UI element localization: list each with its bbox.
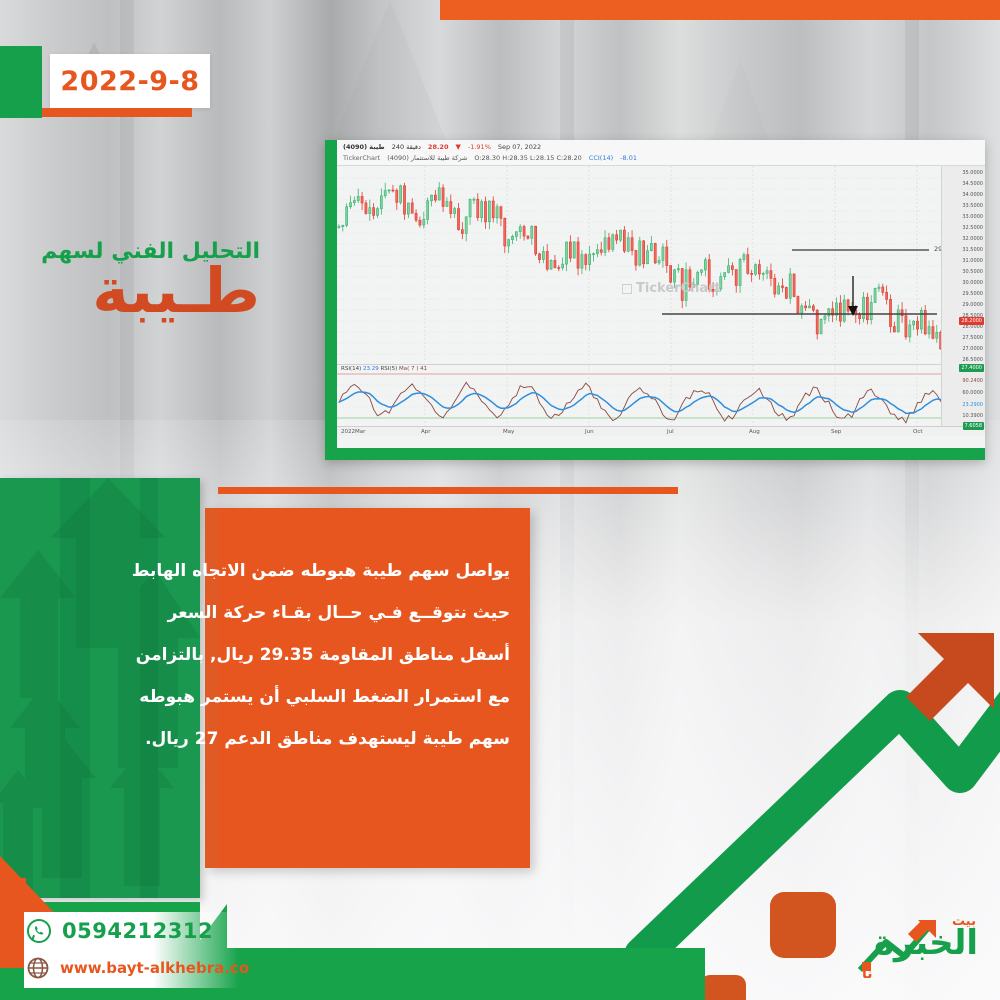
x-tick: May [503, 429, 514, 435]
x-tick: Jun [585, 429, 594, 435]
chart-screenshot[interactable]: طيبة (4090) دقيقة 240 28.20 ▼ -1.91% Sep… [337, 140, 985, 448]
logo-main-word: الخبرة [874, 926, 978, 960]
indicator-rsi-value: 23.29 [363, 366, 379, 372]
chart-last-price: 28.20 [428, 142, 449, 153]
y-tick: 26.5000 [962, 357, 983, 363]
time-axis: 2022Mar Apr May Jun Jul Aug Sep Oct [337, 426, 985, 436]
analysis-text-panel: يواصل سهم طيبة هبوطه ضمن الاتجاه الهابط … [218, 508, 530, 868]
footer-orange-strip [0, 878, 26, 968]
brand-logo[interactable]: بيت الخبرة نا [852, 912, 982, 986]
chart-card-left-edge [325, 140, 337, 460]
headline-block: التحليل الفني لسهم طـيبة [20, 240, 260, 322]
text-divider-rule [218, 487, 678, 494]
chart-timeframe: دقيقة 240 [392, 142, 421, 153]
indicator-rsi2-label: RSI(5) [380, 366, 397, 372]
y-tick: 31.5000 [962, 247, 983, 253]
poster-canvas: 2022-9-8 التحليل الفني لسهم طـيبة طيبة (… [0, 0, 1000, 1000]
footer-green-band [185, 948, 705, 1000]
x-tick: Sep [831, 429, 841, 435]
analysis-line: يواصل سهم طيبة هبوطه ضمن الاتجاه الهابط [238, 550, 510, 592]
y-tick: 29.0000 [962, 302, 983, 308]
x-tick: 2022Mar [341, 429, 365, 435]
ind-y-tick: 23.2900 [962, 402, 983, 408]
chart-header-row-2: TickerChart شركة طيبة للاستثمار (4090) O… [343, 153, 979, 164]
website-url: www.bayt-alkhebra.co [60, 959, 249, 977]
chart-card: طيبة (4090) دقيقة 240 28.20 ▼ -1.91% Sep… [325, 140, 985, 460]
globe-icon [26, 956, 50, 980]
y-tick: 34.5000 [962, 181, 983, 187]
current-price-tag: 28.2000 [959, 317, 984, 325]
y-tick: 35.0000 [962, 170, 983, 176]
analysis-line: حيث نتوقــع فـي حــال بقـاء حركة السعر [238, 592, 510, 634]
background-stripe [120, 0, 134, 1000]
triangle-down-icon: ▼ [455, 142, 460, 153]
y-tick: 34.0000 [962, 192, 983, 198]
x-tick: Oct [913, 429, 923, 435]
price-pane: TickerChart 29.35 27 [337, 166, 985, 362]
ind-y-tick: 90.2400 [962, 378, 983, 384]
y-tick: 32.5000 [962, 225, 983, 231]
chart-indicator-name: CCI(14) [589, 153, 613, 164]
arrow-head-icon [906, 633, 994, 721]
chart-header-row-1: طيبة (4090) دقيقة 240 28.20 ▼ -1.91% Sep… [343, 142, 979, 153]
footer-green-block [0, 902, 200, 1000]
ind-y-tick: 60.0000 [962, 390, 983, 396]
chart-ohlc: O:28.30 H:28.35 L:28.15 C:28.20 [474, 153, 581, 164]
date-text: 2022-9-8 [60, 66, 199, 97]
indicator-pane: RSI(14) 23.29 RSI(5) Ma( 7 ) 41 [337, 364, 985, 426]
decorative-square [700, 975, 746, 1000]
ind-green-tag: 7.6058 [963, 422, 985, 430]
whatsapp-number: 0594212312 [62, 919, 213, 943]
y-tick: 27.0000 [962, 346, 983, 352]
whatsapp-contact[interactable]: 0594212312 [26, 918, 213, 944]
logo-accent-word: نا [862, 966, 873, 982]
ind-y-tick: 10.3900 [962, 413, 983, 419]
y-tick: 30.0000 [962, 280, 983, 286]
chart-date: Sep 07, 2022 [498, 142, 541, 153]
chart-series-name: شركة طيبة للاستثمار (4090) [387, 153, 467, 164]
price-axis[interactable]: 35.0000 34.5000 34.0000 33.5000 33.0000 … [941, 166, 985, 426]
x-tick: Aug [749, 429, 760, 435]
y-tick: 30.5000 [962, 269, 983, 275]
analysis-line: سهم طيبة ليستهدف مناطق الدعم 27 ريال. [238, 718, 510, 760]
rsi-svg [337, 365, 985, 427]
date-badge-accent [0, 46, 42, 118]
whatsapp-icon [26, 918, 52, 944]
top-accent-bar [440, 0, 1000, 20]
chart-header: طيبة (4090) دقيقة 240 28.20 ▼ -1.91% Sep… [337, 140, 985, 166]
chart-symbol: طيبة (4090) [343, 142, 385, 153]
headline-title: طـيبة [20, 260, 260, 322]
decorative-square [770, 892, 836, 958]
date-badge-underline [42, 108, 192, 117]
indicator-legend: RSI(14) 23.29 RSI(5) Ma( 7 ) 41 [341, 366, 427, 372]
indicator-rsi-label: RSI(14) [341, 366, 361, 372]
chart-indicator-value: -8.01 [620, 153, 637, 164]
secondary-price-tag: 27.4000 [959, 364, 984, 372]
background-triangle [330, 0, 450, 150]
analysis-line: أسفل مناطق المقاومة 29.35 ريال, بالتزامن [238, 634, 510, 676]
x-tick: Apr [421, 429, 431, 435]
y-tick: 31.0000 [962, 258, 983, 264]
y-tick: 33.5000 [962, 203, 983, 209]
chart-change-pct: -1.91% [468, 142, 491, 153]
y-tick: 33.0000 [962, 214, 983, 220]
y-tick: 29.5000 [962, 291, 983, 297]
chart-brand: TickerChart [343, 153, 380, 164]
y-tick: 27.5000 [962, 335, 983, 341]
chart-card-bottom-edge [325, 448, 985, 460]
website-contact[interactable]: www.bayt-alkhebra.co [26, 956, 249, 980]
x-tick: Jul [667, 429, 674, 435]
analysis-line: مع استمرار الضغط السلبي أن يستمر هبوطه [238, 676, 510, 718]
y-tick: 32.0000 [962, 236, 983, 242]
date-badge: 2022-9-8 [50, 54, 210, 108]
indicator-rsi2-value: Ma( 7 ) 41 [399, 366, 427, 372]
candlestick-svg [337, 166, 985, 362]
